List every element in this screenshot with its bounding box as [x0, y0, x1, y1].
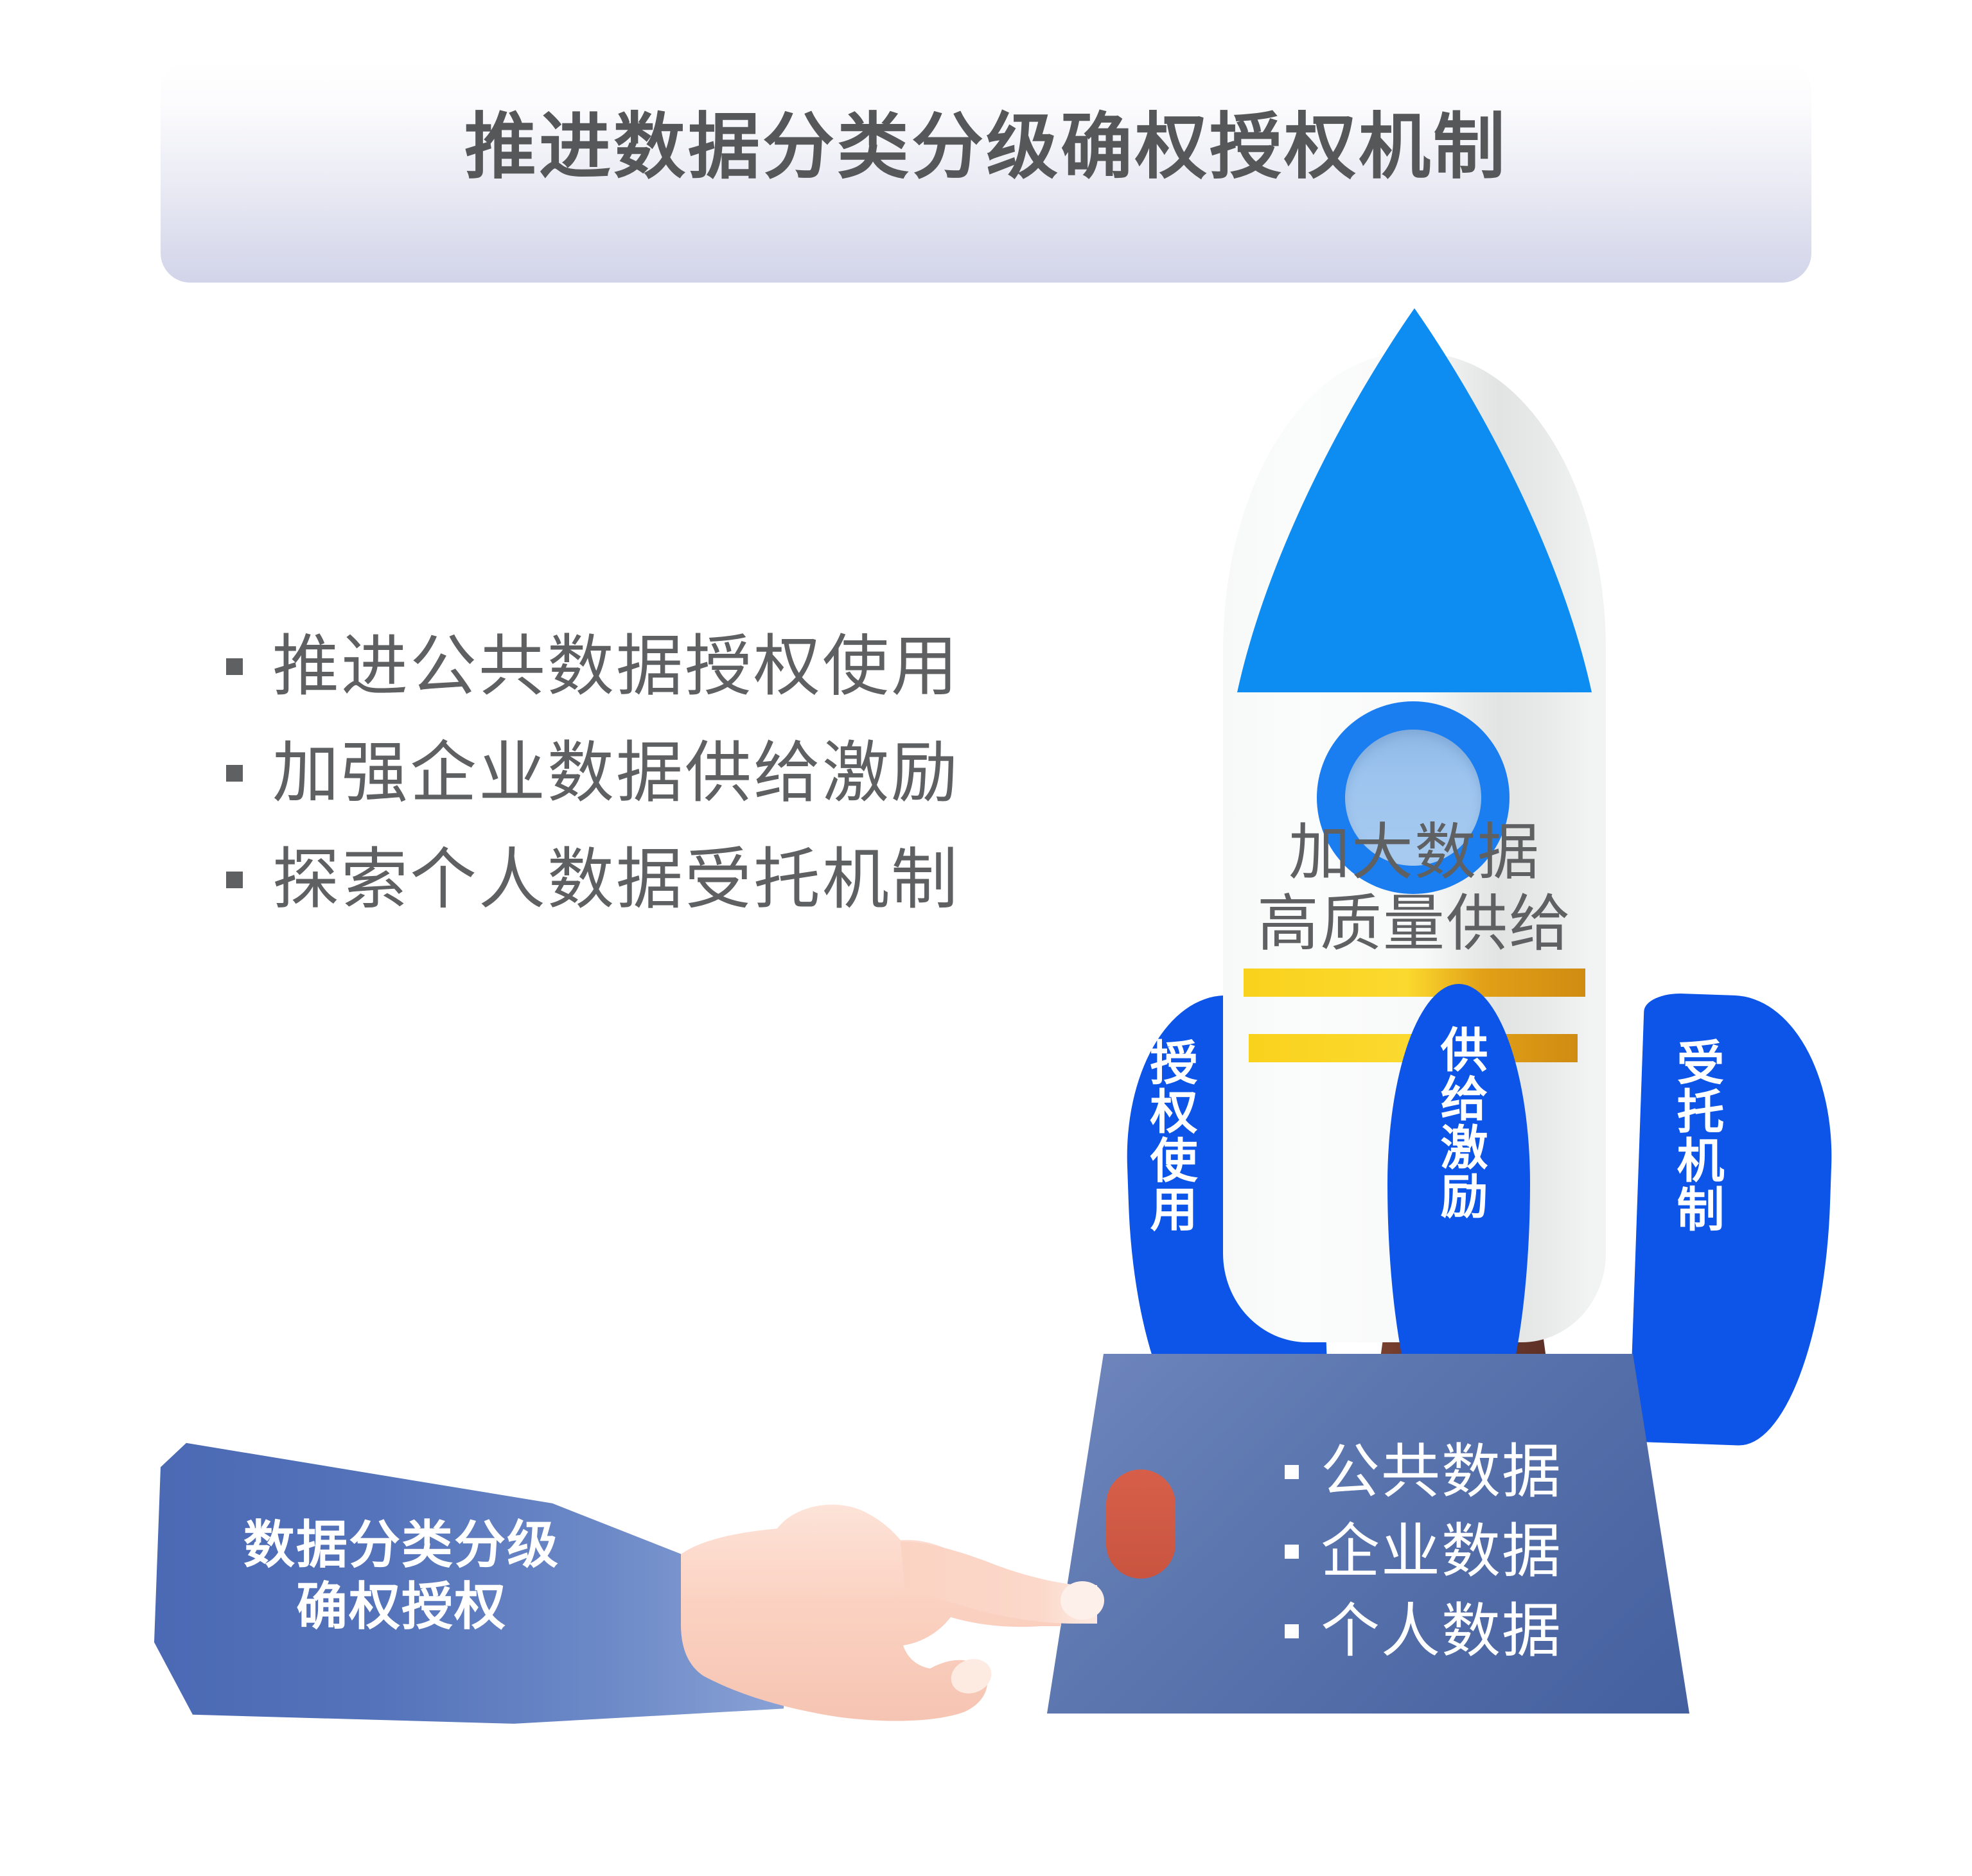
list-item: 探索个人数据受托机制 [226, 827, 1125, 933]
rocket-fin-left-label: 授权使用 [1145, 1038, 1194, 1233]
list-item-label: 推进公共数据授权使用 [272, 633, 960, 700]
sleeve-banner-label: 数据分类分级 确权授权 [193, 1514, 610, 1638]
title-banner: 推进数据分类分级确权授权机制 [161, 61, 1811, 283]
fingertip-highlight [1061, 1581, 1104, 1620]
rocket-fin-middle-label: 供给激励 [1435, 1025, 1484, 1220]
square-bullet-icon [226, 658, 243, 675]
square-bullet-icon [1285, 1545, 1299, 1559]
pointing-hand-icon [681, 1464, 1143, 1740]
square-bullet-icon [1285, 1465, 1299, 1479]
left-bullet-list: 推进公共数据授权使用 加强企业数据供给激励 探索个人数据受托机制 [226, 613, 1125, 933]
platform-bullet-list: 公共数据 企业数据 个人数据 [1285, 1432, 1734, 1671]
list-item-label: 公共数据 [1321, 1442, 1562, 1502]
list-item-label: 个人数据 [1321, 1602, 1562, 1661]
rocket-illustration: 加大数据 高质量供给 授权使用 供给激励 受托机制 [1086, 315, 1869, 1445]
sleeve-label-line2: 确权授权 [193, 1576, 610, 1638]
list-item-label: 企业数据 [1321, 1522, 1562, 1581]
list-item-label: 探索个人数据受托机制 [272, 846, 960, 913]
list-item: 加强企业数据供给激励 [226, 720, 1125, 827]
rocket-stripe-upper-icon [1244, 969, 1585, 997]
rocket-fin-right-label: 受托机制 [1671, 1038, 1721, 1233]
list-item: 企业数据 [1285, 1512, 1734, 1591]
launch-button[interactable] [1106, 1469, 1175, 1579]
rocket-fin-right-icon [1629, 992, 1837, 1448]
list-item: 个人数据 [1285, 1591, 1734, 1671]
page-title: 推进数据分类分级确权授权机制 [464, 111, 1508, 183]
square-bullet-icon [226, 765, 243, 782]
rocket-body-label-line2: 高质量供给 [1223, 888, 1606, 960]
list-item-label: 加强企业数据供给激励 [272, 740, 960, 807]
square-bullet-icon [1285, 1624, 1299, 1638]
square-bullet-icon [226, 872, 243, 888]
list-item: 公共数据 [1285, 1432, 1734, 1512]
list-item: 推进公共数据授权使用 [226, 613, 1125, 720]
sleeve-label-line1: 数据分类分级 [193, 1514, 610, 1576]
rocket-body-label-line1: 加大数据 [1223, 817, 1606, 888]
rocket-body-label: 加大数据 高质量供给 [1223, 817, 1606, 960]
